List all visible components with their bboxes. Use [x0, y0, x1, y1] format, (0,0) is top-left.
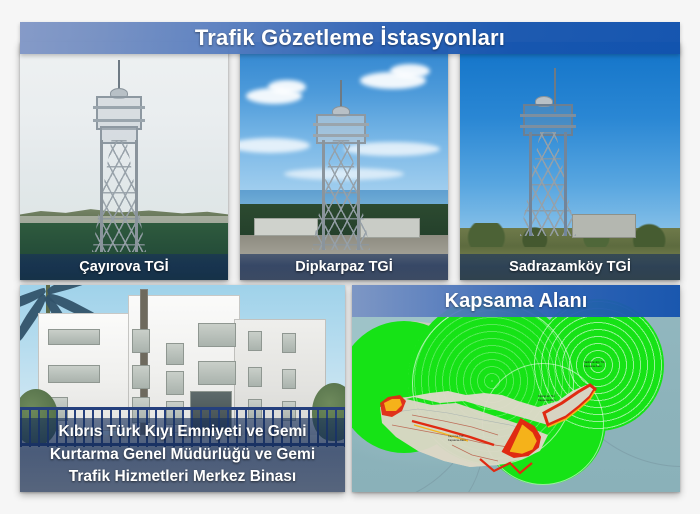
surveillance-tower-icon [92, 60, 146, 252]
building-window [48, 365, 100, 383]
fence-rail [20, 407, 345, 410]
station-photo-cayirova: Çayırova TGİ [20, 42, 228, 280]
building-window [248, 331, 262, 351]
building-window [198, 361, 236, 385]
coverage-map-image: Sadrazamköy TGİ Kapsama Alanı Dipkarpaz … [352, 285, 680, 492]
caption-line-1: Kıbrıs Türk Kıyı Emniyeti ve Gemi [58, 421, 306, 443]
station-card-cayirova[interactable]: Çayırova TGİ [20, 42, 228, 280]
surveillance-tower-icon [312, 80, 370, 250]
headquarters-card[interactable]: Kıbrıs Türk Kıyı Emniyeti ve Gemi Kurtar… [20, 285, 345, 492]
cloud-shape [268, 80, 306, 94]
headquarters-caption: Kıbrıs Türk Kıyı Emniyeti ve Gemi Kurtar… [20, 418, 345, 492]
caption-line-3: Trafik Hizmetleri Merkez Binası [69, 466, 296, 488]
building-window [248, 367, 262, 387]
building-window [282, 369, 296, 389]
coverage-map-card[interactable]: Sadrazamköy TGİ Kapsama Alanı Dipkarpaz … [352, 285, 680, 492]
building-window [132, 365, 150, 389]
building-window [166, 371, 184, 395]
caption-line-2: Kurtarma Genel Müdürlüğü ve Gemi [50, 444, 315, 466]
poster-canvas: Trafik Gözetleme İstasyonları Çayır [0, 0, 700, 514]
building-window [132, 329, 150, 353]
shed-shape [254, 218, 318, 236]
station-card-dipkarpaz[interactable]: Dipkarpaz TGİ [240, 42, 448, 280]
map-annotation: Sadrazamköy TGİ Kapsama Alanı [584, 361, 605, 368]
station-photo-dipkarpaz: Dipkarpaz TGİ [240, 42, 448, 280]
station-photo-sadrazamkoy: Sadrazamköy TGİ [460, 42, 680, 280]
coverage-map-title: Kapsama Alanı [445, 290, 588, 313]
equipment-building-shape [572, 214, 636, 238]
map-annotation: Çayırova TGİ Kapsama Alanı [448, 435, 465, 442]
station-caption-cayirova: Çayırova TGİ [20, 254, 228, 280]
building-window [198, 323, 236, 347]
station-caption-sadrazamkoy: Sadrazamköy TGİ [460, 254, 680, 280]
headquarters-photo: Kıbrıs Türk Kıyı Emniyeti ve Gemi Kurtar… [20, 285, 345, 492]
page-title: Trafik Gözetleme İstasyonları [195, 25, 505, 51]
station-card-sadrazamkoy[interactable]: Sadrazamköy TGİ [460, 42, 680, 280]
surveillance-tower-icon [520, 74, 576, 236]
coverage-map-title-bar: Kapsama Alanı [352, 285, 680, 317]
building-window [166, 343, 184, 365]
building-window [48, 329, 100, 345]
building-window [282, 333, 296, 353]
station-caption-dipkarpaz: Dipkarpaz TGİ [240, 254, 448, 280]
cloud-shape [390, 64, 430, 78]
page-title-bar: Trafik Gözetleme İstasyonları [20, 22, 680, 54]
map-annotation: Dipkarpaz TGİ Kapsama Alanı [538, 395, 555, 402]
